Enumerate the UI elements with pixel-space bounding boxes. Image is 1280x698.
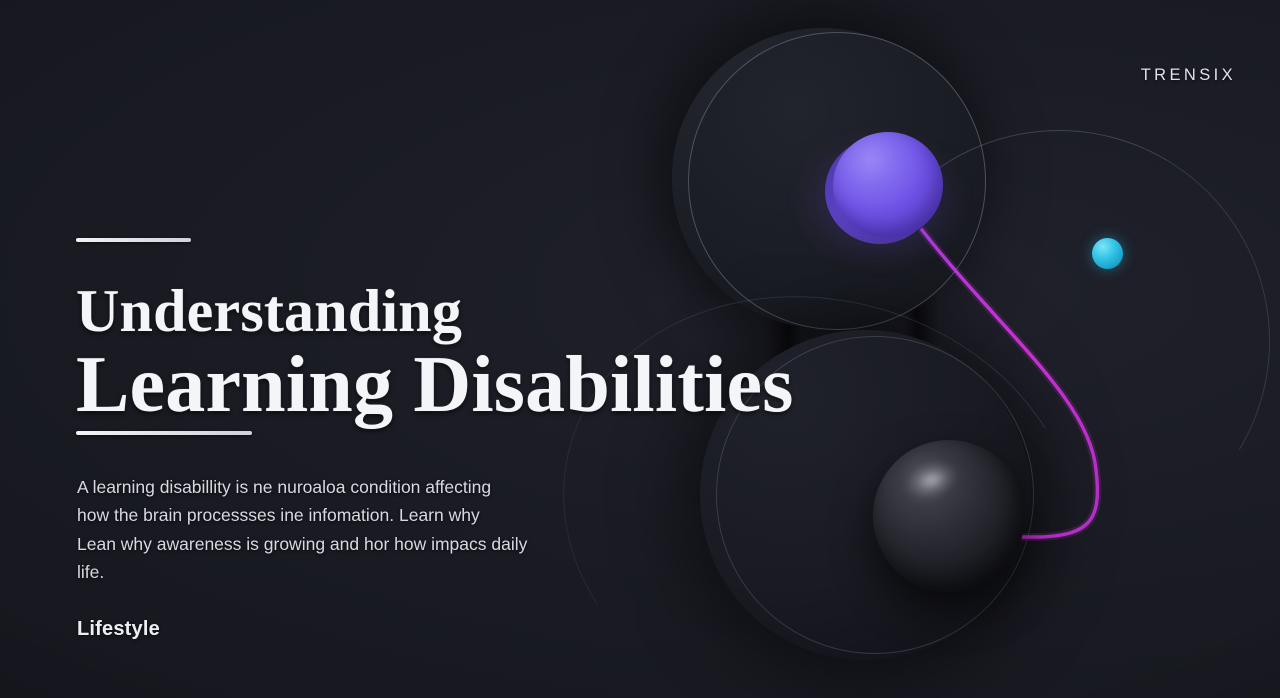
purple-glow (760, 105, 1000, 295)
page-title: Understanding Learning Disabilities (76, 283, 976, 423)
title-line-1: Understanding (76, 283, 976, 341)
cyan-sphere (1092, 238, 1123, 269)
description-line-3: Lean why awareness is growing and hor ho… (77, 530, 602, 559)
puck-side-face (825, 138, 935, 244)
category-label: Lifestyle (77, 618, 160, 641)
dark-sphere-highlight (901, 455, 963, 506)
title-underline-rule (76, 431, 252, 435)
description-line-1: A learning disabillity is ne nuroaloa co… (77, 473, 602, 502)
hero-text-column: Understanding Learning Disabilities A le… (76, 0, 636, 698)
description-line-4: life. (77, 558, 602, 587)
puck-top-face (833, 132, 943, 238)
top-divider-rule (76, 238, 191, 242)
title-line-2: Learning Disabilities (76, 347, 976, 424)
poster-canvas: TRENSIX Understanding Learning Disabilit… (0, 0, 1280, 698)
hero-description: A learning disabillity is ne nuroaloa co… (77, 473, 602, 587)
purple-puck (825, 132, 943, 246)
brand-wordmark: TRENSIX (1141, 66, 1236, 85)
dark-sphere (873, 440, 1025, 592)
description-line-2: how the brain processses ine infomation.… (77, 501, 602, 530)
